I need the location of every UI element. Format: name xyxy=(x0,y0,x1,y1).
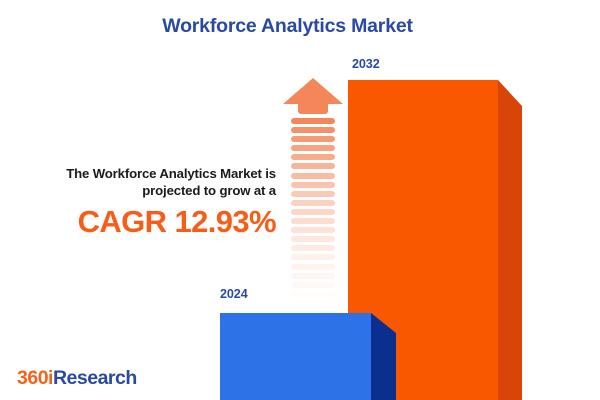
brand-logo-research: Research xyxy=(53,367,137,389)
arrow-stripe xyxy=(291,127,335,133)
bar-2024[interactable]: 2024 USD 3.53 billion xyxy=(220,313,396,400)
arrow-stripe xyxy=(291,300,335,306)
statement-line-1: The Workforce Analytics Market is xyxy=(12,165,276,182)
growth-arrow-up-icon xyxy=(283,78,343,293)
arrow-stripe xyxy=(291,154,335,160)
page-title: Workforce Analytics Market xyxy=(0,15,575,38)
infographic-canvas: Workforce Analytics Market The Workforce… xyxy=(0,0,600,400)
arrow-stripe xyxy=(291,218,335,224)
arrow-stripe xyxy=(291,191,335,197)
arrow-stripe xyxy=(291,245,335,251)
arrow-stripe xyxy=(291,273,335,279)
arrow-stripe xyxy=(291,173,335,179)
arrow-stripes xyxy=(291,118,335,318)
brand-logo[interactable]: 360iResearch xyxy=(17,367,137,390)
bar-2024-front-face xyxy=(220,313,371,400)
arrow-stripe xyxy=(291,236,335,242)
arrow-stripe xyxy=(291,254,335,260)
arrow-stripe xyxy=(291,182,335,188)
cagr-value: CAGR 12.93% xyxy=(12,204,276,240)
bar-2024-year-label: 2024 xyxy=(220,287,248,301)
arrow-stripe xyxy=(291,282,335,288)
arrow-stripe xyxy=(291,227,335,233)
bar-2024-side-face xyxy=(371,313,396,400)
arrow-stripe xyxy=(291,200,335,206)
arrow-stripe xyxy=(291,118,335,124)
bar-2032-year-label: 2032 xyxy=(352,57,380,71)
arrow-stripe xyxy=(291,163,335,169)
statement-line-2: projected to grow at a xyxy=(12,182,276,199)
arrow-stripe xyxy=(291,145,335,151)
bar-2032-side-face xyxy=(498,80,522,400)
arrow-neck-icon xyxy=(298,103,328,114)
brand-logo-360i: 360i xyxy=(17,367,53,389)
arrow-stripe xyxy=(291,291,335,297)
arrow-stripe xyxy=(291,209,335,215)
cagr-statement: The Workforce Analytics Market is projec… xyxy=(12,165,276,240)
arrow-head-icon xyxy=(283,78,343,108)
arrow-stripe xyxy=(291,136,335,142)
arrow-triangle-icon xyxy=(283,78,343,104)
arrow-stripe xyxy=(291,264,335,270)
